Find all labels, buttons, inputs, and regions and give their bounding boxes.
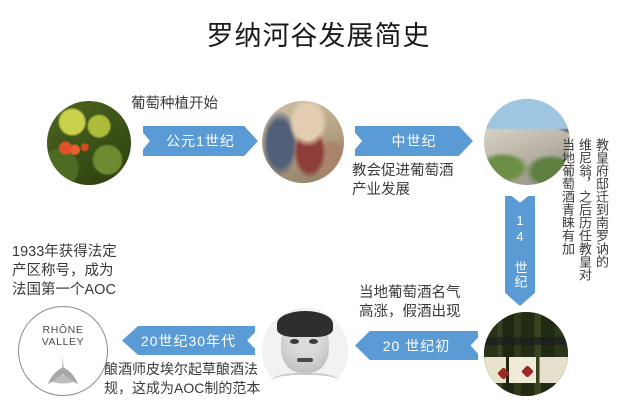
chateau-photo bbox=[484, 99, 570, 185]
caption-fame-rises: 当地葡萄酒名气 高涨，假酒出现 bbox=[359, 284, 461, 322]
caption-aoc-1933: 1933年获得法定 产区称号，成为 法国第一个AOC bbox=[12, 243, 117, 300]
wine-bottles-photo-inner bbox=[484, 312, 568, 396]
medieval-figure-photo bbox=[262, 101, 344, 183]
caption-popes-col-1: 教皇府邸迁到南罗讷的 bbox=[594, 138, 609, 298]
wine-bottles-photo bbox=[484, 312, 568, 396]
rhone-valley-logo-line-1: RHÔNE bbox=[43, 324, 84, 336]
vineyard-photo-inner bbox=[47, 101, 131, 185]
arrow-1930s[interactable]: 20世纪30年代 bbox=[122, 326, 255, 355]
arrow-century-14-label: 14 世纪 bbox=[511, 213, 530, 289]
caption-church-promotes: 教会促进葡萄酒 产业发展 bbox=[352, 162, 454, 200]
caption-aoc-model: 酿酒师皮埃尔起草酿酒法 规，这成为AOC制的范本 bbox=[104, 360, 260, 398]
caption-popes-col-2: 维尼翁，之后历任教皇对 bbox=[577, 138, 592, 298]
arrow-early-20th[interactable]: 20 世纪初 bbox=[355, 331, 478, 360]
chateau-photo-inner bbox=[484, 99, 570, 185]
portrait-collar bbox=[271, 373, 340, 394]
medieval-figure-photo-inner bbox=[262, 101, 344, 183]
pierre-portrait-photo-inner bbox=[262, 308, 348, 394]
rhone-valley-logo: RHÔNE VALLEY bbox=[18, 306, 108, 396]
infographic-canvas: 罗纳河谷发展简史 葡萄种植开始 公元1世纪 中世纪 教会促进葡萄酒 产业发展 1… bbox=[0, 0, 637, 412]
caption-planting-start: 葡萄种植开始 bbox=[131, 95, 218, 114]
page-title: 罗纳河谷发展简史 bbox=[0, 14, 637, 53]
arrow-middle-ages[interactable]: 中世纪 bbox=[355, 126, 473, 156]
arrow-century-14[interactable]: 14 世纪 bbox=[505, 196, 535, 306]
arrow-century-1[interactable]: 公元1世纪 bbox=[143, 126, 258, 156]
rhone-valley-emblem-icon bbox=[43, 354, 83, 386]
portrait-mouth bbox=[297, 358, 312, 362]
portrait-hair bbox=[277, 311, 332, 337]
arrow-1930s-label: 20世纪30年代 bbox=[141, 331, 236, 351]
pierre-portrait-photo bbox=[262, 308, 348, 394]
arrow-century-1-label: 公元1世纪 bbox=[166, 131, 235, 151]
bottle-cap-band bbox=[484, 337, 568, 345]
caption-popes-vertical: 教皇府邸迁到南罗讷的 维尼翁，之后历任教皇对 当地葡萄酒青睐有加 bbox=[560, 138, 609, 298]
arrow-middle-ages-label: 中世纪 bbox=[392, 131, 437, 151]
arrow-early-20th-label: 20 世纪初 bbox=[383, 336, 450, 356]
rhone-valley-logo-line-2: VALLEY bbox=[42, 336, 85, 348]
vineyard-photo bbox=[47, 101, 131, 185]
caption-popes-col-3: 当地葡萄酒青睐有加 bbox=[560, 138, 575, 298]
